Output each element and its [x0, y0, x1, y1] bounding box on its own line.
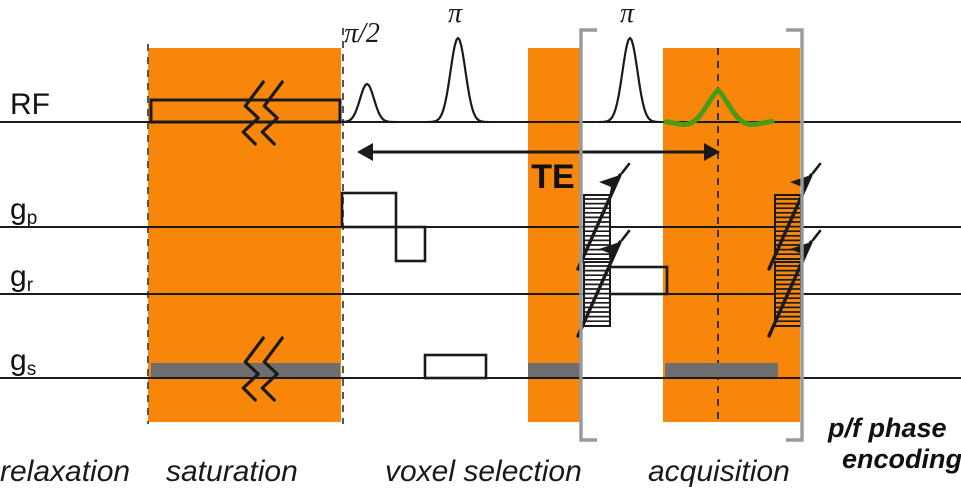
pi-pulse-2-label: π — [620, 0, 635, 29]
gs-saturation-bar — [151, 363, 340, 378]
diagram-canvas: π/2ππTERFgpgrgsp/f phaseencodingrelaxati… — [0, 0, 961, 491]
te-label: TE — [531, 158, 574, 196]
ladder-gp-left-arrow-tick — [622, 164, 629, 173]
pulse-sequence-diagram: π/2ππTERFgpgrgsp/f phaseencodingrelaxati… — [0, 0, 961, 491]
te-arrow-head-left — [357, 143, 373, 161]
channel-sublabel-gp: p — [27, 208, 38, 229]
pi-pulse-2 — [600, 38, 661, 122]
pi-pulse-1 — [428, 38, 489, 122]
gs-select-lobe — [425, 355, 486, 378]
ladder-gr-right-arrow-tick — [813, 231, 820, 240]
pi-pulse-1-label: π — [448, 0, 463, 29]
label-acquisition: acquisition — [648, 455, 790, 488]
channel-label-gp: gp — [10, 193, 37, 229]
pi-half-pulse — [339, 84, 396, 122]
gp-positive-lobe — [342, 193, 396, 227]
ladder-gr-left-arrow-tick — [622, 231, 629, 240]
label-relaxation: relaxation — [0, 455, 130, 488]
channel-label-gs: gs — [10, 344, 36, 380]
gs-acquisition-bar — [665, 363, 778, 378]
label-voxel-selection: voxel selection — [385, 455, 582, 488]
channel-sublabel-gs: s — [27, 359, 37, 380]
channel-label-gr: gr — [10, 260, 34, 296]
gp-negative-lobe — [396, 227, 425, 261]
channel-label-rf: RF — [10, 88, 50, 121]
gs-refocus-bar — [528, 363, 580, 378]
ladder-gp-right-arrow-tick — [813, 164, 820, 173]
label-saturation: saturation — [166, 455, 298, 488]
pf-phase-encoding-label-line2: encoding — [842, 444, 961, 474]
channel-sublabel-gr: r — [27, 275, 34, 296]
pi-half-pulse-label: π/2 — [344, 18, 380, 49]
pf-phase-encoding-label-line1: p/f phase — [827, 413, 947, 443]
